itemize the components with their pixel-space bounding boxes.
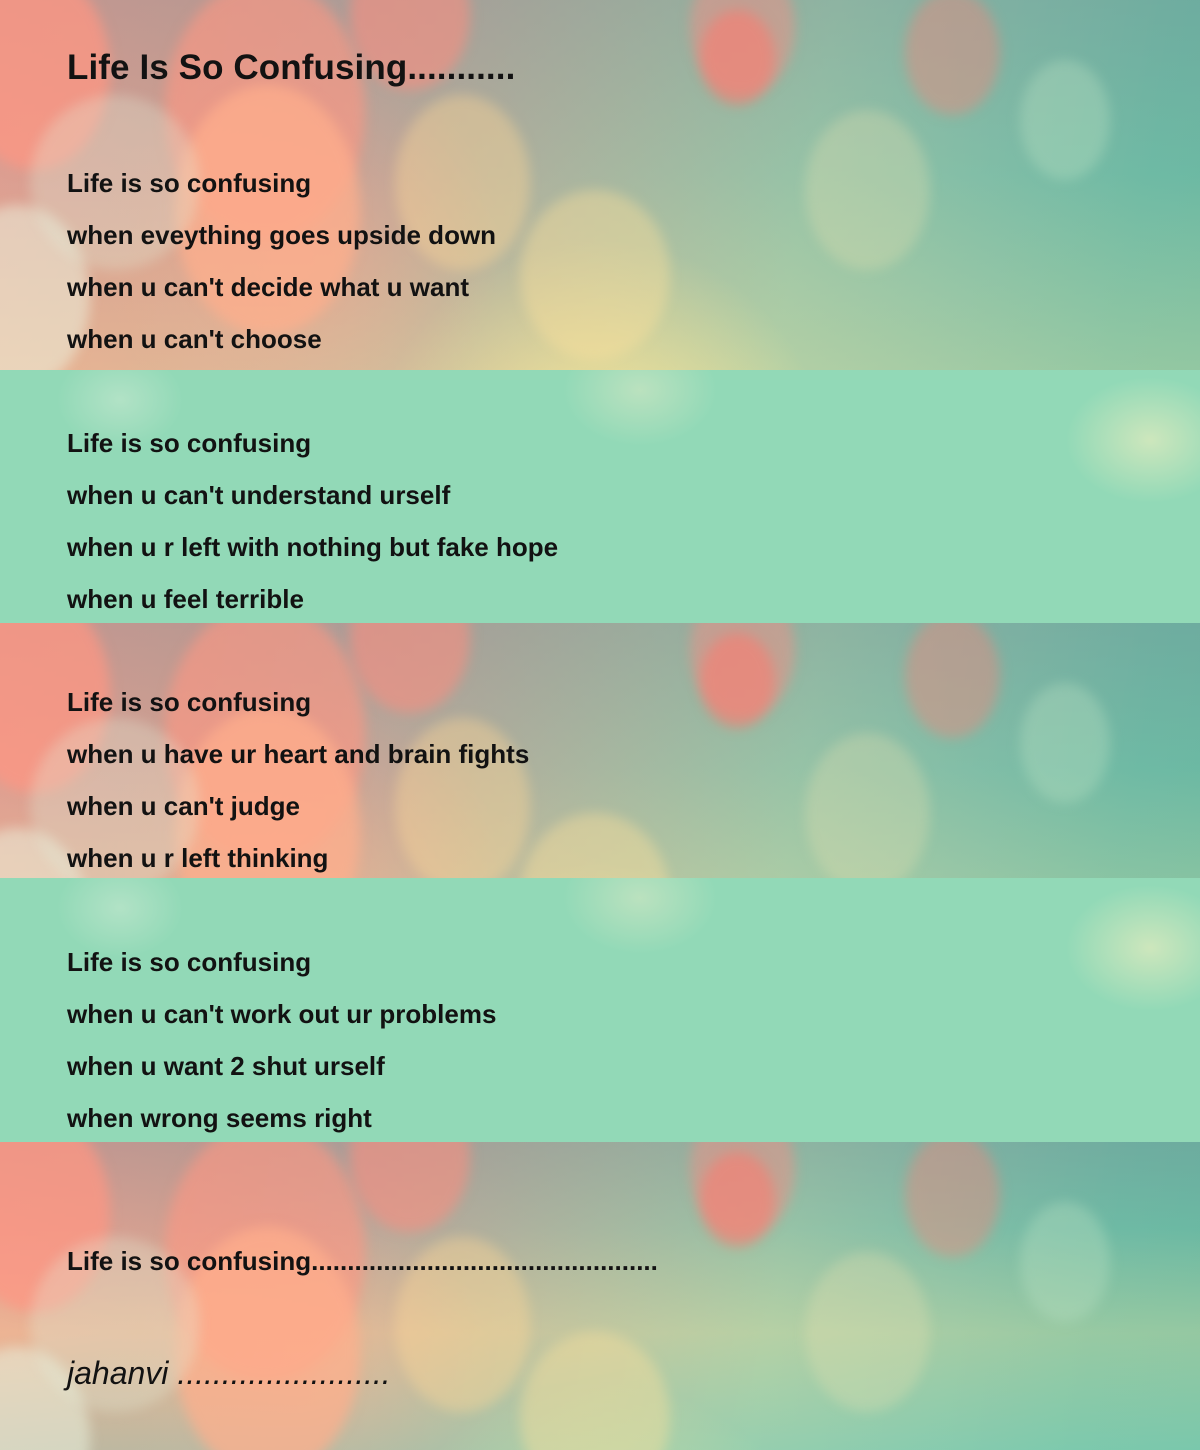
poem-signature: jahanvi ........................ (67, 1355, 391, 1392)
poem-stanza: Life is so confusing when u have ur hear… (67, 676, 1117, 884)
poem-line: when u r left thinking (67, 832, 1117, 884)
poem-line: when u can't understand urself (67, 469, 1117, 521)
poem-line: Life is so confusing (67, 157, 1117, 209)
poem-line: when u feel terrible (67, 573, 1117, 625)
poem-line: when u have ur heart and brain fights (67, 728, 1117, 780)
poem-page: Life Is So Confusing........... Life is … (0, 0, 1200, 1450)
poem-line: when u can't judge (67, 780, 1117, 832)
poem-stanza: Life is so confusing when eveything goes… (67, 157, 1117, 365)
poem-text-layer: Life Is So Confusing........... Life is … (0, 0, 1200, 1450)
poem-closing-line: Life is so confusing....................… (67, 1246, 658, 1277)
poem-stanza: Life is so confusing when u can't unders… (67, 417, 1117, 625)
poem-line: Life is so confusing (67, 936, 1117, 988)
page-title: Life Is So Confusing........... (67, 48, 515, 88)
poem-line: when u can't work out ur problems (67, 988, 1117, 1040)
poem-line: when u want 2 shut urself (67, 1040, 1117, 1092)
poem-line: Life is so confusing (67, 676, 1117, 728)
poem-line: when wrong seems right (67, 1092, 1117, 1144)
poem-line: Life is so confusing (67, 417, 1117, 469)
poem-line: when u can't decide what u want (67, 261, 1117, 313)
poem-line: when eveything goes upside down (67, 209, 1117, 261)
poem-line: when u r left with nothing but fake hope (67, 521, 1117, 573)
poem-line: when u can't choose (67, 313, 1117, 365)
poem-stanza: Life is so confusing when u can't work o… (67, 936, 1117, 1144)
